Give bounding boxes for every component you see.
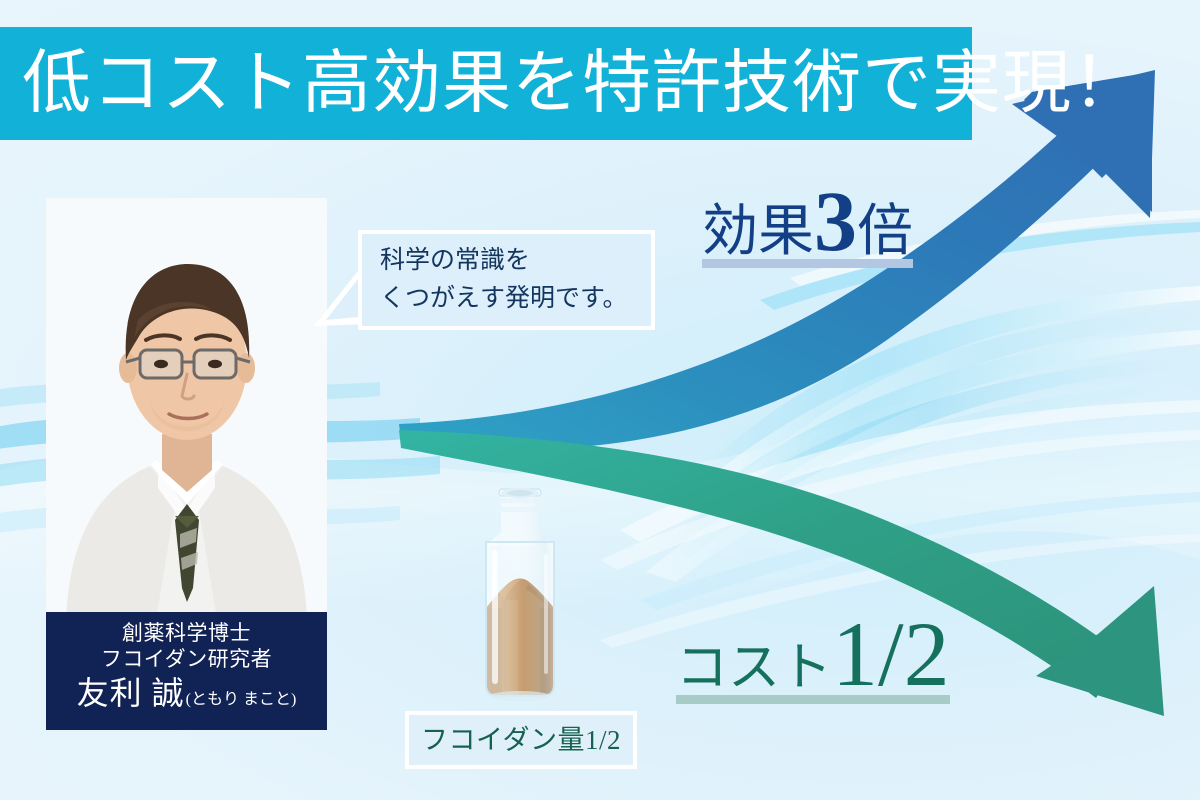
doctor-photo xyxy=(46,198,327,620)
doctor-credential-line1: 創薬科学博士 xyxy=(46,620,327,646)
metric-effect-number: 3 xyxy=(814,178,857,264)
metric-cost: コスト 1/2 xyxy=(676,608,950,700)
product-vial xyxy=(470,480,570,705)
product-caption-text: フコイダン量1/2 xyxy=(421,727,621,754)
doctor-credential-line2: フコイダン研究者 xyxy=(46,646,327,672)
speech-bubble-line2: くつがえす発明です。 xyxy=(380,280,651,318)
doctor-name-reading: (ともり まこと) xyxy=(186,690,297,710)
doctor-card: 創薬科学博士 フコイダン研究者 友利 誠 (ともり まこと) xyxy=(46,198,327,730)
doctor-name: 友利 誠 xyxy=(77,675,185,711)
headline-text: 低コスト高効果を特許技術で実現！ xyxy=(22,49,1142,118)
speech-bubble: 科学の常識を くつがえす発明です。 xyxy=(358,230,655,330)
metric-cost-underline xyxy=(676,695,950,704)
metric-effect: 効果 3 倍 xyxy=(702,178,913,264)
promo-banner-root: 低コスト高効果を特許技術で実現！ xyxy=(0,0,1200,800)
speech-bubble-line1: 科学の常識を xyxy=(380,242,651,280)
doctor-name-plate: 創薬科学博士 フコイダン研究者 友利 誠 (ともり まこと) xyxy=(46,612,327,730)
metric-cost-word: コスト xyxy=(676,643,832,695)
doctor-name-row: 友利 誠 (ともり まこと) xyxy=(46,675,327,711)
doctor-portrait-illustration xyxy=(46,198,327,620)
metric-effect-underline xyxy=(702,259,913,268)
metric-effect-word: 効果 xyxy=(702,204,814,260)
metric-cost-number: 1/2 xyxy=(832,608,950,700)
metric-effect-suffix: 倍 xyxy=(857,204,913,260)
headline-banner: 低コスト高効果を特許技術で実現！ xyxy=(0,27,972,140)
product-caption-box: フコイダン量1/2 xyxy=(405,711,637,769)
